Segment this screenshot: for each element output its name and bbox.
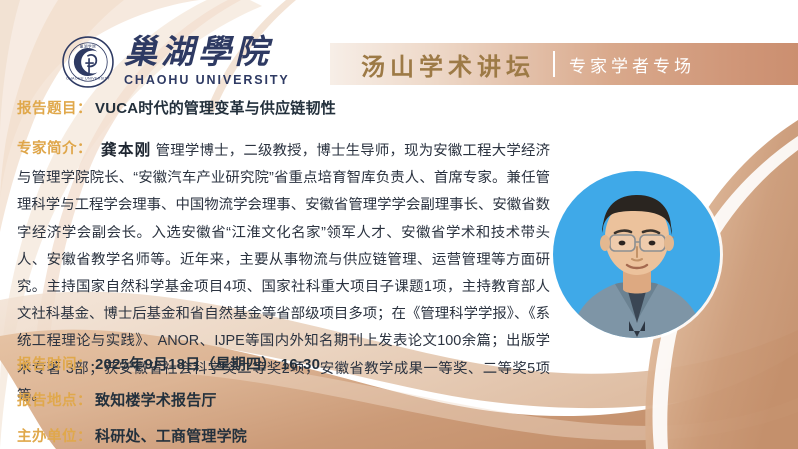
seminar-poster: CHAOHU UNIVERSITY 巢湖学院 巢湖學院 CHAOHU UNIVE… — [0, 0, 798, 449]
speaker-portrait — [553, 171, 720, 338]
time-label: 报告时间： — [17, 353, 92, 374]
chaohu-university-seal-icon: CHAOHU UNIVERSITY 巢湖学院 — [62, 36, 114, 88]
banner-divider — [553, 51, 555, 77]
place-value: 致知楼学术报告厅 — [95, 389, 217, 410]
banner-title: 汤山学术讲坛 — [361, 47, 535, 82]
host-value: 科研处、工商管理学院 — [95, 425, 247, 446]
speaker-name: 龚本刚 — [101, 142, 151, 159]
poster-header: CHAOHU UNIVERSITY 巢湖学院 巢湖學院 CHAOHU UNIVE… — [0, 0, 798, 96]
time-value: 2025年9月18日（星期四） 16:30 — [95, 353, 320, 374]
topic-label: 报告题目： — [17, 97, 92, 118]
time-line: 报告时间： 2025年9月18日（星期四） 16:30 — [17, 353, 320, 374]
place-label: 报告地点： — [17, 389, 92, 410]
brand-text: 巢湖學院 CHAOHU UNIVERSITY — [124, 36, 290, 88]
svg-text:巢湖学院: 巢湖学院 — [80, 43, 97, 48]
banner-subtitle: 专家学者专场 — [569, 52, 695, 77]
host-line: 主办单位： 科研处、工商管理学院 — [17, 425, 247, 446]
university-branding: CHAOHU UNIVERSITY 巢湖学院 巢湖學院 CHAOHU UNIVE… — [62, 36, 290, 88]
bio-label: 专家简介： — [17, 137, 92, 158]
host-label: 主办单位： — [17, 425, 92, 446]
event-banner: 汤山学术讲坛 专家学者专场 — [330, 43, 798, 85]
place-line: 报告地点： 致知楼学术报告厅 — [17, 389, 217, 410]
university-name-en: CHAOHU UNIVERSITY — [124, 73, 290, 88]
university-name-cn: 巢湖學院 — [124, 36, 290, 70]
svg-text:CHAOHU UNIVERSITY: CHAOHU UNIVERSITY — [66, 77, 110, 81]
topic-line: 报告题目： VUCA时代的管理变革与供应链韧性 — [17, 97, 336, 118]
topic-value: VUCA时代的管理变革与供应链韧性 — [95, 97, 336, 118]
